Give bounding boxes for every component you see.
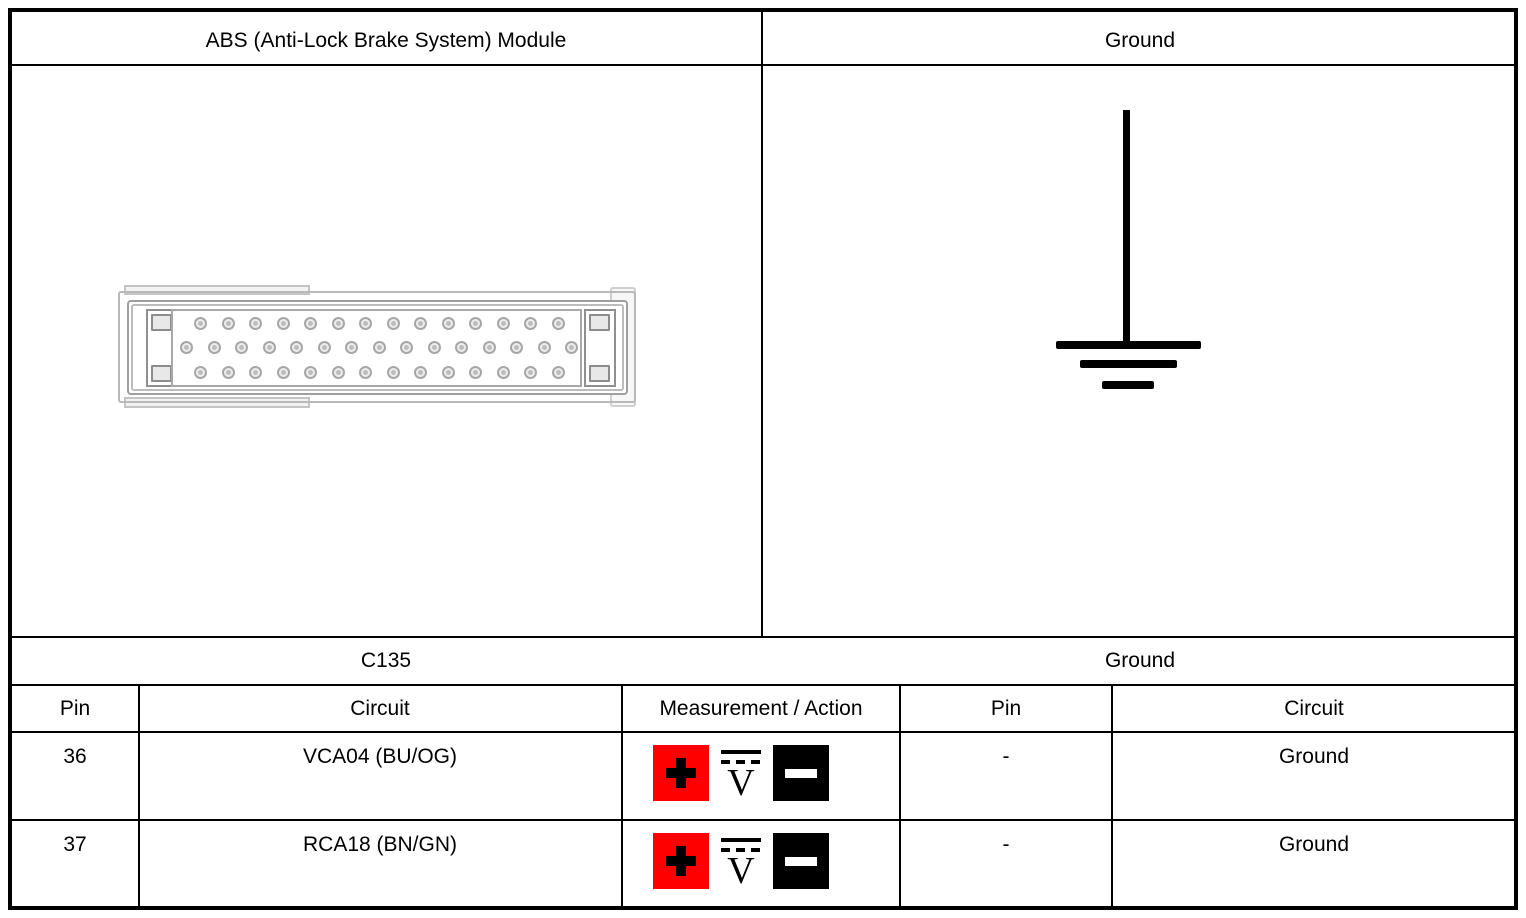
left-connector-id-label: C135: [10, 650, 762, 671]
plus-icon: [666, 846, 696, 876]
connector-pin-cavity: [373, 341, 386, 354]
connector-pin-cavity: [235, 341, 248, 354]
row-0-pin-left: 36: [12, 746, 138, 767]
right-connector-id-label: Ground: [764, 650, 1516, 671]
column-divider-pin-circuit-right: [1111, 684, 1113, 910]
connector-pin-cavity: [455, 341, 468, 354]
connector-pin-cavity: [524, 317, 537, 330]
plus-icon: [666, 758, 696, 788]
row-0-pin-right: -: [902, 746, 1110, 767]
connector-pin-cavity: [345, 341, 358, 354]
voltmeter-v-label: V: [713, 853, 769, 889]
connector-pin-cavity: [222, 317, 235, 330]
connector-pin-cavity: [304, 366, 317, 379]
connector-pin-cavity: [359, 317, 372, 330]
connector-right-latch-chip-bottom: [589, 365, 610, 382]
connector-pin-cavity: [249, 366, 262, 379]
connector-pin-cavity: [524, 366, 537, 379]
column-header-pin-left: Pin: [12, 698, 138, 719]
connector-pin-cavity: [442, 317, 455, 330]
row-0-circuit-right: Ground: [1114, 746, 1514, 767]
row-1-positive-lead-icon: [653, 833, 709, 889]
row-1-pin-left: 37: [12, 834, 138, 855]
graphic-area-bottom-divider: [10, 636, 1516, 638]
ground-bar-1: [1056, 341, 1201, 349]
connector-pin-cavity: [469, 366, 482, 379]
connector-pin-cavity: [194, 317, 207, 330]
connector-pin-cavity: [552, 366, 565, 379]
column-header-circuit-right: Circuit: [1114, 698, 1514, 719]
connector-pin-cavity: [552, 317, 565, 330]
column-divider-measurement-pin-right: [899, 684, 901, 910]
row-1-circuit-left: RCA18 (BN/GN): [140, 834, 620, 855]
column-divider-pin-circuit-left: [138, 684, 140, 910]
connector-pin-cavity: [497, 366, 510, 379]
connector-pin-cavity: [277, 366, 290, 379]
connector-pin-cavity: [180, 341, 193, 354]
row-0-dc-voltmeter-icon: V: [713, 745, 769, 801]
ground-bar-3: [1102, 381, 1154, 389]
left-panel-title: ABS (Anti-Lock Brake System) Module: [10, 30, 762, 51]
abs-module-connector-graphic: [118, 285, 646, 410]
table-header-bottom-divider: [10, 731, 1516, 733]
connector-id-row-divider: [10, 684, 1516, 686]
connector-pin-cavity: [428, 341, 441, 354]
row-1-circuit-right: Ground: [1114, 834, 1514, 855]
row-1-measurement-icon: V: [653, 833, 829, 889]
connector-pin-cavity: [249, 317, 262, 330]
column-header-pin-right: Pin: [902, 698, 1110, 719]
minus-icon: [785, 857, 817, 866]
connector-pin-field: [171, 309, 582, 387]
panel-vertical-divider: [761, 12, 763, 636]
connector-pin-cavity: [332, 317, 345, 330]
header-divider: [10, 64, 1516, 66]
connector-pin-cavity: [469, 317, 482, 330]
connector-pin-cavity: [387, 317, 400, 330]
connector-pin-cavity: [414, 317, 427, 330]
column-divider-circuit-measurement: [621, 684, 623, 910]
connector-pin-cavity: [538, 341, 551, 354]
row-1-pin-right: -: [902, 834, 1110, 855]
row-1-dc-voltmeter-icon: V: [713, 833, 769, 889]
connector-pin-cavity: [290, 341, 303, 354]
row-1-negative-lead-icon: [773, 833, 829, 889]
connector-pin-cavity: [414, 366, 427, 379]
connector-pin-cavity: [510, 341, 523, 354]
connector-pin-cavity: [483, 341, 496, 354]
row-0-negative-lead-icon: [773, 745, 829, 801]
connector-pin-cavity: [332, 366, 345, 379]
connector-pin-cavity: [387, 366, 400, 379]
connector-left-latch-chip-top: [151, 314, 172, 331]
connector-pin-cavity: [222, 366, 235, 379]
connector-pin-cavity: [442, 366, 455, 379]
connector-pin-cavity: [208, 341, 221, 354]
voltmeter-v-label: V: [713, 765, 769, 801]
row-0-positive-lead-icon: [653, 745, 709, 801]
connector-pin-cavity: [194, 366, 207, 379]
connector-right-latch-chip-top: [589, 314, 610, 331]
connector-pin-cavity: [400, 341, 413, 354]
connector-pin-cavity: [318, 341, 331, 354]
row-0-circuit-left: VCA04 (BU/OG): [140, 746, 620, 767]
connector-pin-cavity: [359, 366, 372, 379]
column-header-circuit-left: Circuit: [140, 698, 620, 719]
ground-bar-2: [1080, 360, 1177, 368]
connector-pin-cavity: [277, 317, 290, 330]
connector-pin-cavity: [565, 341, 578, 354]
right-panel-title: Ground: [764, 30, 1516, 51]
connector-pin-cavity: [263, 341, 276, 354]
connector-pin-cavity: [497, 317, 510, 330]
row-0-measurement-icon: V: [653, 745, 829, 801]
connector-pin-cavity: [304, 317, 317, 330]
minus-icon: [785, 769, 817, 778]
dc-solid-line-icon: [721, 838, 761, 842]
column-header-measurement-action: Measurement / Action: [624, 698, 898, 719]
row-0-bottom-divider: [10, 819, 1516, 821]
dc-solid-line-icon: [721, 750, 761, 754]
wiring-diagram-page: ABS (Anti-Lock Brake System) Module Grou…: [0, 0, 1526, 918]
connector-left-latch-chip-bottom: [151, 365, 172, 382]
ground-stem: [1123, 110, 1130, 345]
earth-ground-symbol: [1050, 110, 1220, 400]
